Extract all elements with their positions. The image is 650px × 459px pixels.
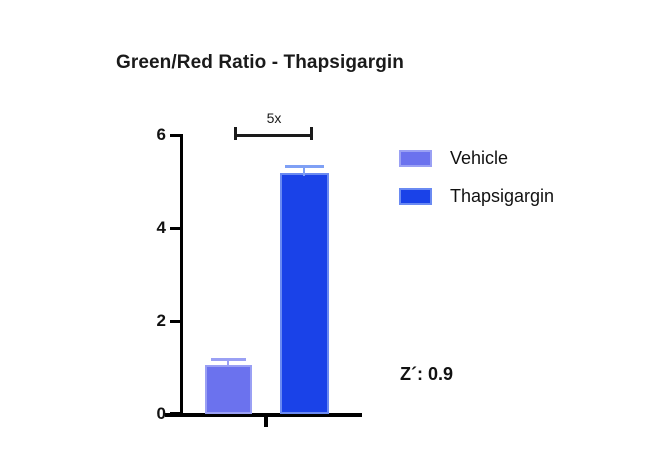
y-tick-mark-2 xyxy=(170,320,181,323)
bar-vehicle xyxy=(205,365,252,414)
fold-change-label: 5x xyxy=(226,110,322,126)
y-tick-label-0-wrap: 0 xyxy=(140,404,166,424)
legend-item-thapsigargin: Thapsigargin xyxy=(399,177,554,215)
plot-area: 6 4 2 0 5x xyxy=(0,0,650,459)
y-tick-label-4: 4 xyxy=(144,218,166,238)
bracket-line xyxy=(234,134,313,137)
y-axis-spine xyxy=(180,134,183,415)
bracket-cap-left xyxy=(234,127,237,140)
legend-swatch-vehicle xyxy=(399,150,432,167)
legend-label-vehicle: Vehicle xyxy=(450,148,508,169)
legend-item-vehicle: Vehicle xyxy=(399,139,554,177)
chart-figure: Green/Red Ratio - Thapsigargin Green/Red… xyxy=(0,0,650,459)
bar-thapsigargin xyxy=(280,173,329,414)
y-tick-mark-4 xyxy=(170,227,181,230)
legend: Vehicle Thapsigargin xyxy=(399,139,554,215)
y-tick-mark-0 xyxy=(170,412,181,415)
y-tick-label-2: 2 xyxy=(144,311,166,331)
error-bar-cap-vehicle xyxy=(211,358,246,361)
error-bar-cap-thapsigargin xyxy=(285,165,324,168)
legend-label-thapsigargin: Thapsigargin xyxy=(450,186,554,207)
legend-swatch-thapsigargin xyxy=(399,188,432,205)
y-tick-label-0: 0 xyxy=(144,404,166,424)
y-tick-label-6: 6 xyxy=(144,125,166,145)
y-tick-label-4-wrap: 4 xyxy=(140,218,166,238)
z-prime-annotation: Z´: 0.9 xyxy=(400,364,453,385)
y-tick-label-6-wrap: 6 xyxy=(140,125,166,145)
bracket-cap-right xyxy=(310,127,313,140)
y-tick-label-2-wrap: 2 xyxy=(140,311,166,331)
y-tick-mark-6 xyxy=(170,134,181,137)
x-tick-mark-center xyxy=(264,415,268,427)
